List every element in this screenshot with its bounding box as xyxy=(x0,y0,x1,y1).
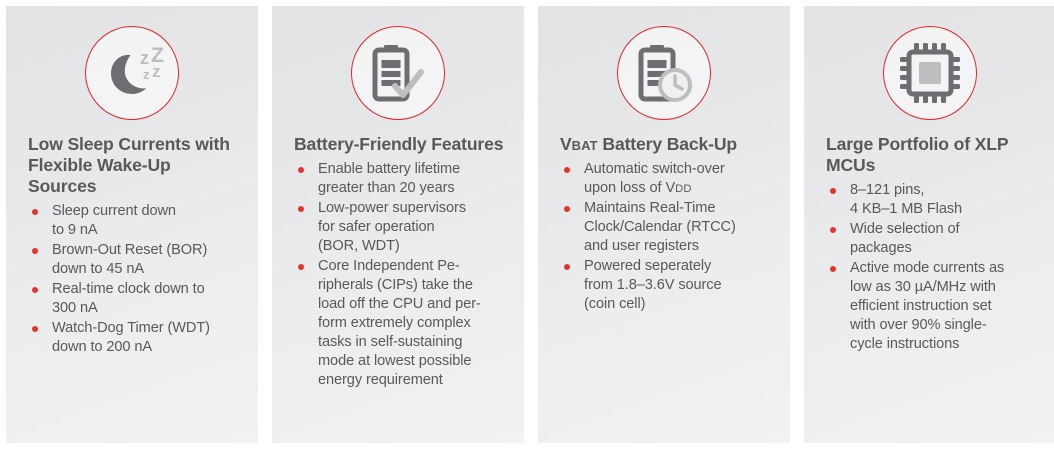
list-item: Active mode currents as low as 30 µA/MHz… xyxy=(826,259,1040,354)
feature-card-battery-friendly: Battery-Friendly Features Enable battery… xyxy=(272,6,524,443)
bullet-text: Real-time clock down to 300 nA xyxy=(52,280,242,318)
bullet-text-smallcaps: DD xyxy=(675,183,692,195)
bullet-dot-icon xyxy=(298,264,304,270)
bullet-text: Watch-Dog Timer (WDT) down to 200 nA xyxy=(52,319,242,357)
bullet-dot-icon xyxy=(32,287,38,293)
bullet-text: Enable battery lifetime greater than 20 … xyxy=(318,160,508,198)
list-item: Maintains Real-Time Clock/Calendar (RTCC… xyxy=(560,199,774,256)
icon-circle xyxy=(883,26,977,120)
list-item: Core Independent Pe- ripherals (CIPs) ta… xyxy=(294,257,508,390)
bullet-dot-icon xyxy=(564,167,570,173)
bullet-dot-icon xyxy=(32,209,38,215)
card-bullet-list: Enable battery lifetime greater than 20 … xyxy=(294,160,508,390)
microchip-icon xyxy=(898,41,962,105)
list-item: Automatic switch-over upon loss of VDD xyxy=(560,160,774,198)
feature-card-large-portfolio-xlp: Large Portfolio of XLP MCUs 8–121 pins, … xyxy=(804,6,1054,443)
icon-circle: z Z z z xyxy=(85,26,179,120)
bullet-dot-icon xyxy=(298,206,304,212)
bullet-text: Powered seperately from 1.8–3.6V source … xyxy=(584,257,774,314)
card-body: Large Portfolio of XLP MCUs 8–121 pins, … xyxy=(804,134,1054,354)
feature-card-vbat-battery-backup: VBAT Battery Back-Up Automatic switch-ov… xyxy=(538,6,790,443)
bullet-text: Maintains Real-Time Clock/Calendar (RTCC… xyxy=(584,199,774,256)
list-item: 8–121 pins, 4 KB–1 MB Flash xyxy=(826,181,1040,219)
list-item: Watch-Dog Timer (WDT) down to 200 nA xyxy=(28,319,242,357)
bullet-dot-icon xyxy=(830,227,836,233)
card-title: Large Portfolio of XLP MCUs xyxy=(826,134,1040,176)
card-title-rest: Battery Back-Up xyxy=(598,134,737,154)
card-icon-area xyxy=(804,6,1054,134)
icon-circle xyxy=(617,26,711,120)
svg-text:z: z xyxy=(140,48,149,68)
bullet-dot-icon xyxy=(830,266,836,272)
bullet-text: Sleep current down to 9 nA xyxy=(52,202,242,240)
bullet-dot-icon xyxy=(32,248,38,254)
list-item: Sleep current down to 9 nA xyxy=(28,202,242,240)
bullet-dot-icon xyxy=(298,167,304,173)
bullet-text-main: Automatic switch-over upon loss of V xyxy=(584,161,725,196)
svg-text:z: z xyxy=(143,67,150,82)
card-title: VBAT Battery Back-Up xyxy=(560,134,774,155)
bullet-text: Low-power supervisors for safer operatio… xyxy=(318,199,508,256)
card-body: Low Sleep Currents with Flexible Wake-Up… xyxy=(6,134,258,357)
card-icon-area: z Z z z xyxy=(6,6,258,134)
card-title: Low Sleep Currents with Flexible Wake-Up… xyxy=(28,134,242,197)
moon-zzz-icon: z Z z z xyxy=(96,42,168,104)
battery-check-icon xyxy=(365,41,431,105)
feature-cards-board: z Z z z Low Sleep Currents with Flexible… xyxy=(0,0,1054,457)
bullet-dot-icon xyxy=(564,264,570,270)
bullet-dot-icon xyxy=(830,188,836,194)
card-bullet-list: Automatic switch-over upon loss of VDD M… xyxy=(560,160,774,314)
list-item: Brown-Out Reset (BOR) down to 45 nA xyxy=(28,241,242,279)
feature-card-low-sleep-currents: z Z z z Low Sleep Currents with Flexible… xyxy=(6,6,258,443)
card-title: Battery-Friendly Features xyxy=(294,134,508,155)
list-item: Powered seperately from 1.8–3.6V source … xyxy=(560,257,774,314)
card-bullet-list: Sleep current down to 9 nA Brown-Out Res… xyxy=(28,202,242,357)
bullet-text: Wide selection of packages xyxy=(850,220,1040,258)
bullet-dot-icon xyxy=(32,326,38,332)
card-title-prefix: V xyxy=(560,134,572,154)
bullet-dot-icon xyxy=(564,206,570,212)
bullet-text: Automatic switch-over upon loss of VDD xyxy=(584,160,774,198)
svg-text:z: z xyxy=(152,62,161,81)
battery-clock-icon xyxy=(631,41,697,105)
card-icon-area xyxy=(272,6,524,134)
card-title-smallcaps: BAT xyxy=(572,138,598,153)
list-item: Enable battery lifetime greater than 20 … xyxy=(294,160,508,198)
card-bullet-list: 8–121 pins, 4 KB–1 MB Flash Wide selecti… xyxy=(826,181,1040,354)
list-item: Real-time clock down to 300 nA xyxy=(28,280,242,318)
list-item: Wide selection of packages xyxy=(826,220,1040,258)
icon-circle xyxy=(351,26,445,120)
bullet-text: Brown-Out Reset (BOR) down to 45 nA xyxy=(52,241,242,279)
bullet-text: Active mode currents as low as 30 µA/MHz… xyxy=(850,259,1040,354)
card-body: VBAT Battery Back-Up Automatic switch-ov… xyxy=(538,134,790,314)
card-body: Battery-Friendly Features Enable battery… xyxy=(272,134,524,390)
bullet-text: Core Independent Pe- ripherals (CIPs) ta… xyxy=(318,257,508,390)
card-icon-area xyxy=(538,6,790,134)
bullet-text: 8–121 pins, 4 KB–1 MB Flash xyxy=(850,181,1040,219)
list-item: Low-power supervisors for safer operatio… xyxy=(294,199,508,256)
